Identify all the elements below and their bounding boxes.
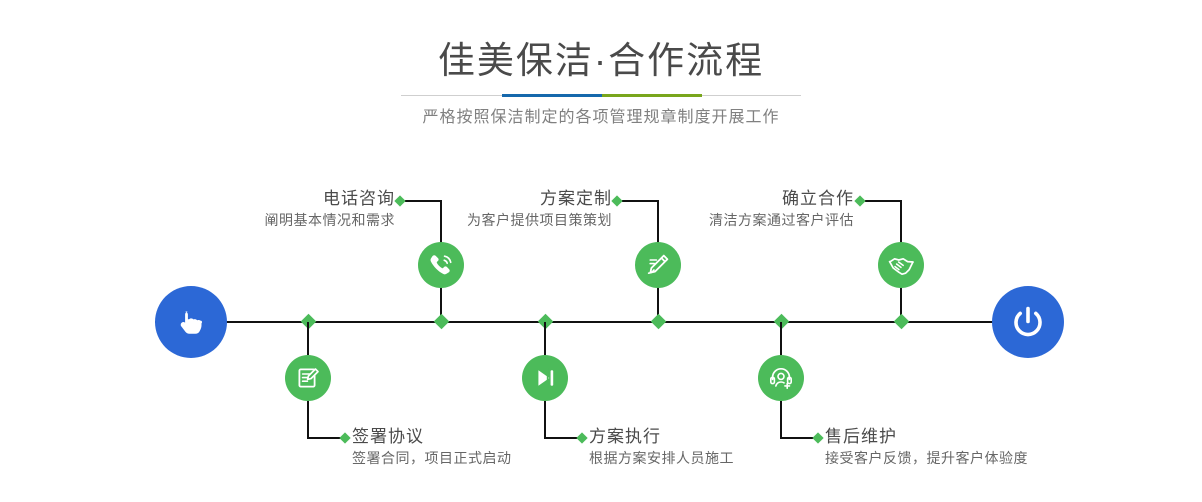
flow-start-node[interactable] xyxy=(155,286,227,358)
customer-support-icon xyxy=(767,364,795,392)
step-icon-phone-call[interactable] xyxy=(418,242,464,288)
phone-call-icon xyxy=(427,251,455,279)
pencil-edit-icon xyxy=(644,251,672,279)
step-label-top-2: 方案定制 为客户提供项目策策划 xyxy=(360,188,612,230)
pointing-hand-icon xyxy=(171,302,211,342)
step-subtitle: 阐明基本情况和需求 xyxy=(140,210,395,230)
flow-end-node[interactable] xyxy=(992,286,1064,358)
title-divider xyxy=(401,94,801,97)
timeline-marker-top-2 xyxy=(651,314,667,330)
branch-line-bottom-2-vertical xyxy=(544,401,546,439)
branch-line-bottom-1-stem xyxy=(307,322,309,355)
step-label-top-1: 电话咨询 阐明基本情况和需求 xyxy=(140,188,395,230)
power-icon xyxy=(1007,301,1049,343)
timeline-marker-top-1 xyxy=(434,314,450,330)
divider-segment-blue xyxy=(502,94,602,97)
timeline-main-line xyxy=(155,321,1047,323)
step-subtitle: 清洁方案通过客户评估 xyxy=(600,210,854,230)
play-skip-icon xyxy=(531,364,559,392)
page-title: 佳美保洁·合作流程 xyxy=(0,38,1202,84)
step-icon-partnership[interactable] xyxy=(878,242,924,288)
branch-line-bottom-3-stem xyxy=(780,322,782,355)
divider-segment-green xyxy=(602,94,702,97)
step-icon-plan-design[interactable] xyxy=(635,242,681,288)
branch-marker-top-3 xyxy=(854,195,865,206)
step-title: 售后维护 xyxy=(825,426,1165,448)
page-subtitle: 严格按照保洁制定的各项管理规章制度开展工作 xyxy=(0,106,1202,130)
timeline-marker-top-3 xyxy=(894,314,910,330)
step-icon-after-sales[interactable] xyxy=(758,355,804,401)
branch-marker-bottom-1 xyxy=(339,432,350,443)
step-label-top-3: 确立合作 清洁方案通过客户评估 xyxy=(600,188,854,230)
step-title: 方案定制 xyxy=(360,188,612,210)
branch-line-top-3-horizontal xyxy=(865,200,902,202)
document-sign-icon xyxy=(294,364,322,392)
branch-line-bottom-3-vertical xyxy=(780,401,782,439)
step-title: 确立合作 xyxy=(600,188,854,210)
handshake-icon xyxy=(887,251,916,280)
branch-line-bottom-1-vertical xyxy=(307,401,309,439)
branch-line-top-3-vertical xyxy=(900,201,902,244)
step-icon-execute-plan[interactable] xyxy=(522,355,568,401)
step-title: 电话咨询 xyxy=(140,188,395,210)
step-label-bottom-3: 售后维护 接受客户反馈，提升客户体验度 xyxy=(825,426,1165,468)
branch-line-bottom-2-stem xyxy=(544,322,546,355)
step-icon-sign-agreement[interactable] xyxy=(285,355,331,401)
step-subtitle: 为客户提供项目策策划 xyxy=(360,210,612,230)
step-subtitle: 接受客户反馈，提升客户体验度 xyxy=(825,448,1165,468)
process-flow-infographic: 佳美保洁·合作流程 严格按照保洁制定的各项管理规章制度开展工作 电话咨 xyxy=(0,0,1202,502)
